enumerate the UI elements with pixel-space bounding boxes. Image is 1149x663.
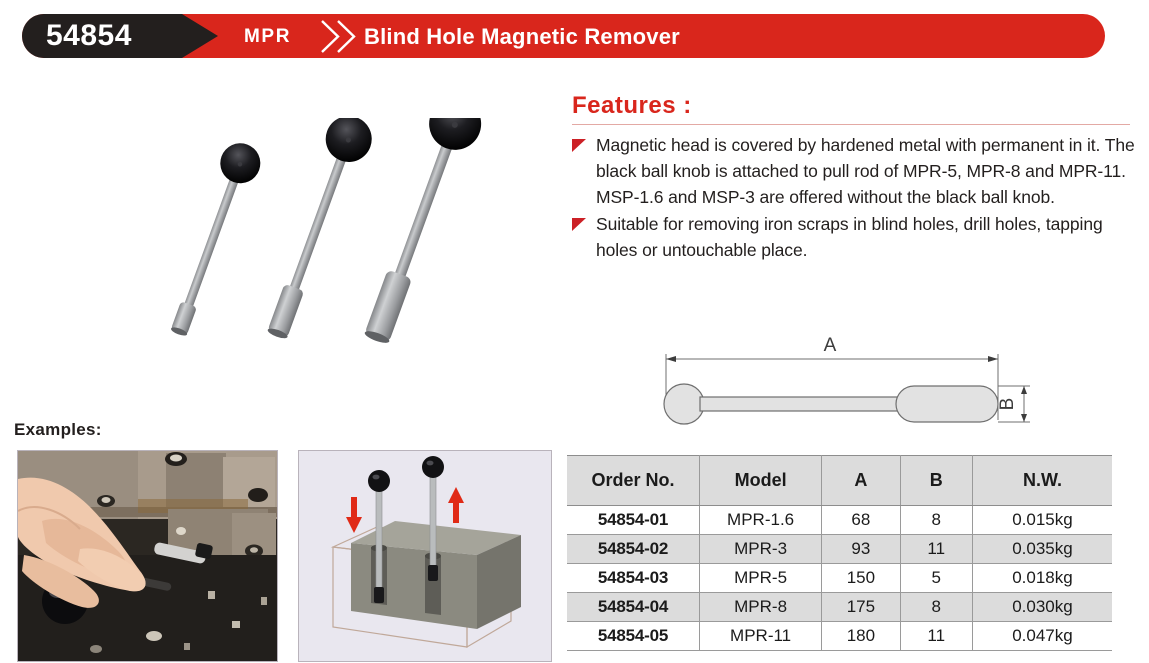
cell-b: 11: [900, 622, 972, 651]
cell-order-no: 54854-03: [567, 564, 700, 593]
dimension-diagram: A B: [640, 334, 1040, 444]
cell-nw: 0.030kg: [972, 593, 1112, 622]
example-photo-blind-hole-illustration: [298, 450, 552, 662]
cell-a: 93: [822, 535, 900, 564]
table-body: 54854-01 MPR-1.6 68 8 0.015kg 54854-02 M…: [567, 506, 1112, 651]
feature-text: Suitable for removing iron scraps in bli…: [596, 214, 1103, 260]
cell-b: 8: [900, 593, 972, 622]
cell-b: 8: [900, 506, 972, 535]
cell-a: 150: [822, 564, 900, 593]
cell-b: 5: [900, 564, 972, 593]
product-title: Blind Hole Magnetic Remover: [364, 14, 680, 58]
cell-order-no: 54854-02: [567, 535, 700, 564]
features-heading: Features :: [572, 92, 1140, 120]
cell-model: MPR-11: [700, 622, 822, 651]
triangle-bullet-icon: [572, 139, 586, 152]
cell-nw: 0.047kg: [972, 622, 1112, 651]
cell-nw: 0.035kg: [972, 535, 1112, 564]
dimension-b-label: B: [997, 398, 1018, 411]
examples-label: Examples:: [14, 420, 102, 440]
feature-item: Suitable for removing iron scraps in bli…: [570, 211, 1140, 263]
cell-model: MPR-5: [700, 564, 822, 593]
column-header-model: Model: [700, 456, 822, 506]
product-header-banner: 54854 MPR Blind Hole Magnetic Remover: [22, 14, 1105, 58]
cell-model: MPR-1.6: [700, 506, 822, 535]
dimension-a-label: A: [824, 335, 837, 356]
triangle-bullet-icon: [572, 218, 586, 231]
cell-model: MPR-3: [700, 535, 822, 564]
cell-model: MPR-8: [700, 593, 822, 622]
column-header-order-no: Order No.: [567, 456, 700, 506]
product-series: MPR: [244, 14, 291, 58]
cell-a: 175: [822, 593, 900, 622]
column-header-b: B: [900, 456, 972, 506]
table-header-row: Order No. Model A B N.W.: [567, 456, 1112, 506]
column-header-a: A: [822, 456, 900, 506]
specifications-table: Order No. Model A B N.W. 54854-01 MPR-1.…: [567, 455, 1112, 651]
table-row: 54854-04 MPR-8 175 8 0.030kg: [567, 593, 1112, 622]
cell-a: 68: [822, 506, 900, 535]
feature-text: Magnetic head is covered by hardened met…: [596, 135, 1135, 207]
features-divider: [572, 124, 1130, 125]
table-row: 54854-05 MPR-11 180 11 0.047kg: [567, 622, 1112, 651]
table-row: 54854-01 MPR-1.6 68 8 0.015kg: [567, 506, 1112, 535]
product-photo: [60, 118, 550, 373]
table-row: 54854-02 MPR-3 93 11 0.035kg: [567, 535, 1112, 564]
cell-nw: 0.015kg: [972, 506, 1112, 535]
cell-b: 11: [900, 535, 972, 564]
table-row: 54854-03 MPR-5 150 5 0.018kg: [567, 564, 1112, 593]
cell-order-no: 54854-04: [567, 593, 700, 622]
product-code: 54854: [46, 14, 132, 58]
double-chevron-icon: [318, 19, 362, 54]
feature-item: Magnetic head is covered by hardened met…: [570, 132, 1140, 210]
cell-nw: 0.018kg: [972, 564, 1112, 593]
features-section: Features : Magnetic head is covered by h…: [570, 92, 1140, 264]
example-photo-hand-using-tool: [17, 450, 278, 662]
column-header-nw: N.W.: [972, 456, 1112, 506]
cell-order-no: 54854-05: [567, 622, 700, 651]
table-header: Order No. Model A B N.W.: [567, 456, 1112, 506]
cell-order-no: 54854-01: [567, 506, 700, 535]
cell-a: 180: [822, 622, 900, 651]
